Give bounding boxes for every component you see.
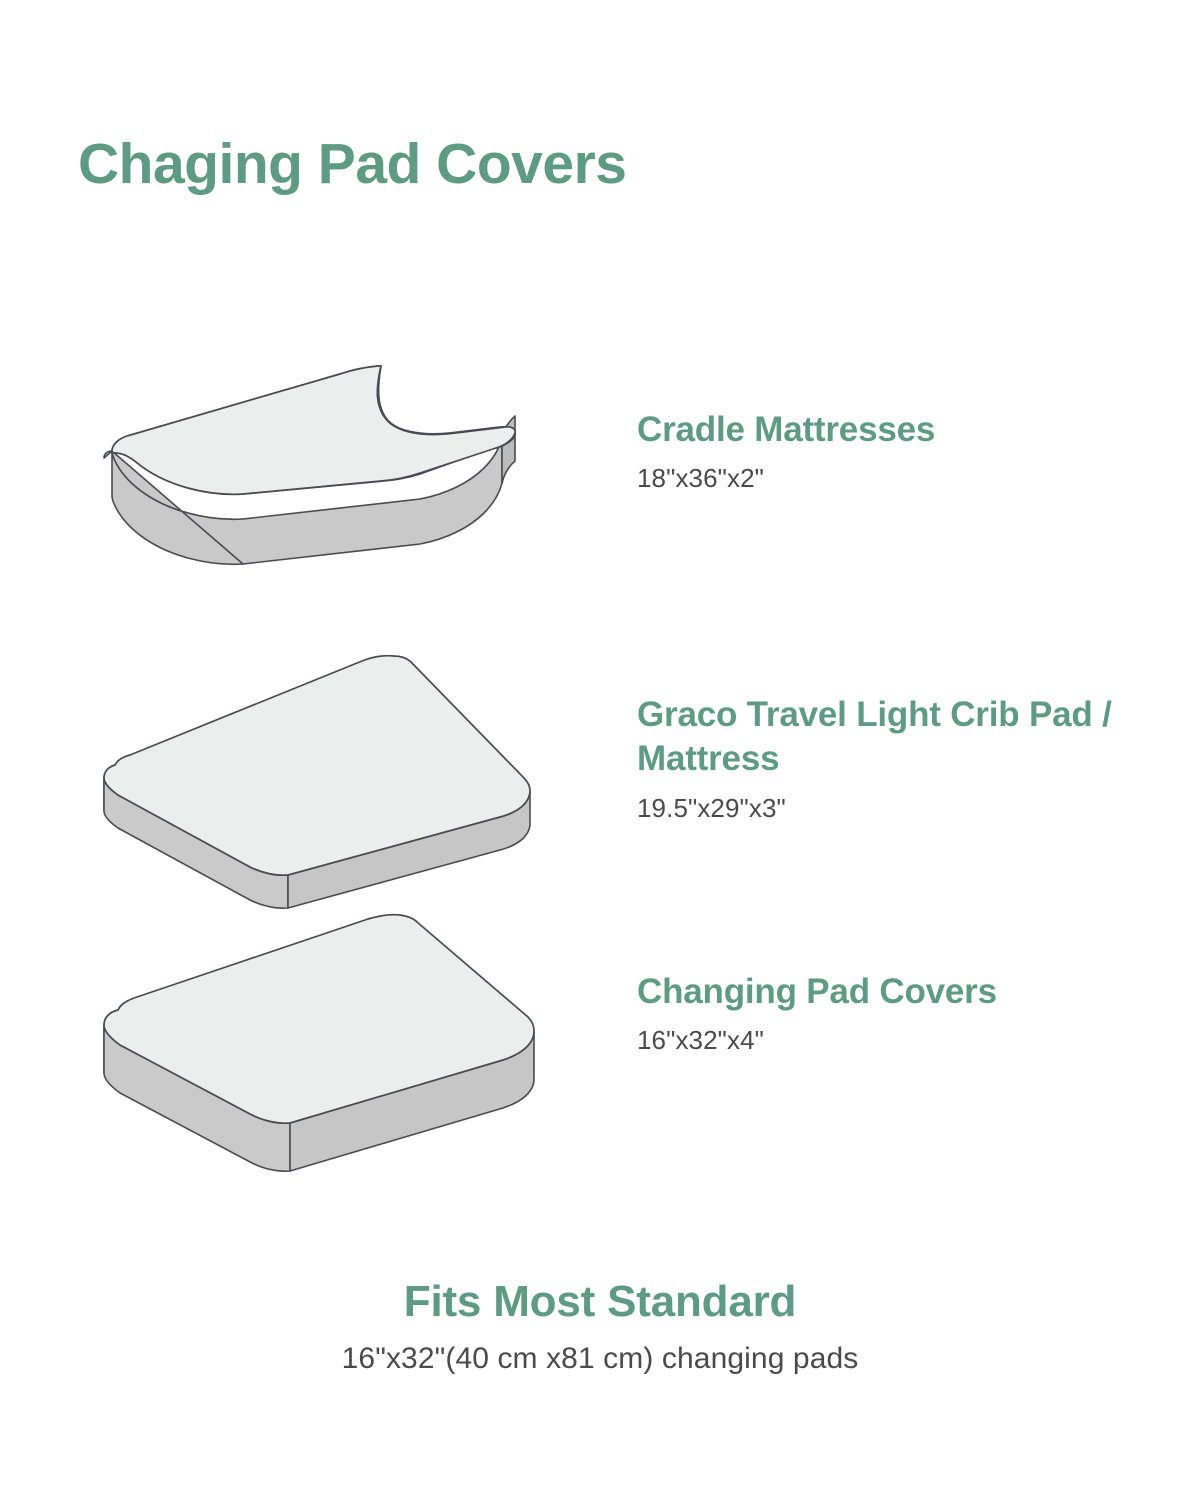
- product-dimensions: 18"x36"x2": [637, 462, 1170, 496]
- footer: Fits Most Standard 16"x32"(40 cm x81 cm)…: [0, 1278, 1200, 1376]
- product-name: Changing Pad Covers: [637, 970, 1170, 1014]
- product-dimensions: 16"x32"x4": [637, 1024, 1170, 1058]
- product-name: Cradle Mattresses: [637, 408, 1170, 452]
- product-illustration-contoured-pad: [0, 360, 620, 610]
- product-row: Cradle Mattresses 18"x36"x2": [0, 360, 1200, 610]
- product-dimensions: 19.5"x29"x3": [637, 792, 1170, 826]
- product-name: Graco Travel Light Crib Pad / Mattress: [637, 693, 1170, 782]
- product-info: Changing Pad Covers 16"x32"x4": [620, 905, 1200, 1058]
- footer-subline: 16"x32"(40 cm x81 cm) changing pads: [0, 1342, 1200, 1376]
- contoured-changing-pad-icon: [0, 360, 620, 610]
- product-row: Graco Travel Light Crib Pad / Mattress 1…: [0, 645, 1200, 915]
- footer-headline: Fits Most Standard: [0, 1278, 1200, 1326]
- product-illustration-thin-mattress: [0, 645, 620, 915]
- product-illustration-thick-mattress: [0, 905, 620, 1180]
- infographic-page: Chaging Pad Covers Cradle Matt: [0, 0, 1200, 1500]
- product-info: Graco Travel Light Crib Pad / Mattress 1…: [620, 645, 1200, 826]
- page-title: Chaging Pad Covers: [78, 136, 626, 193]
- product-row: Changing Pad Covers 16"x32"x4": [0, 905, 1200, 1180]
- flat-thin-mattress-icon: [0, 645, 620, 915]
- product-info: Cradle Mattresses 18"x36"x2": [620, 360, 1200, 496]
- flat-thick-mattress-icon: [0, 905, 620, 1180]
